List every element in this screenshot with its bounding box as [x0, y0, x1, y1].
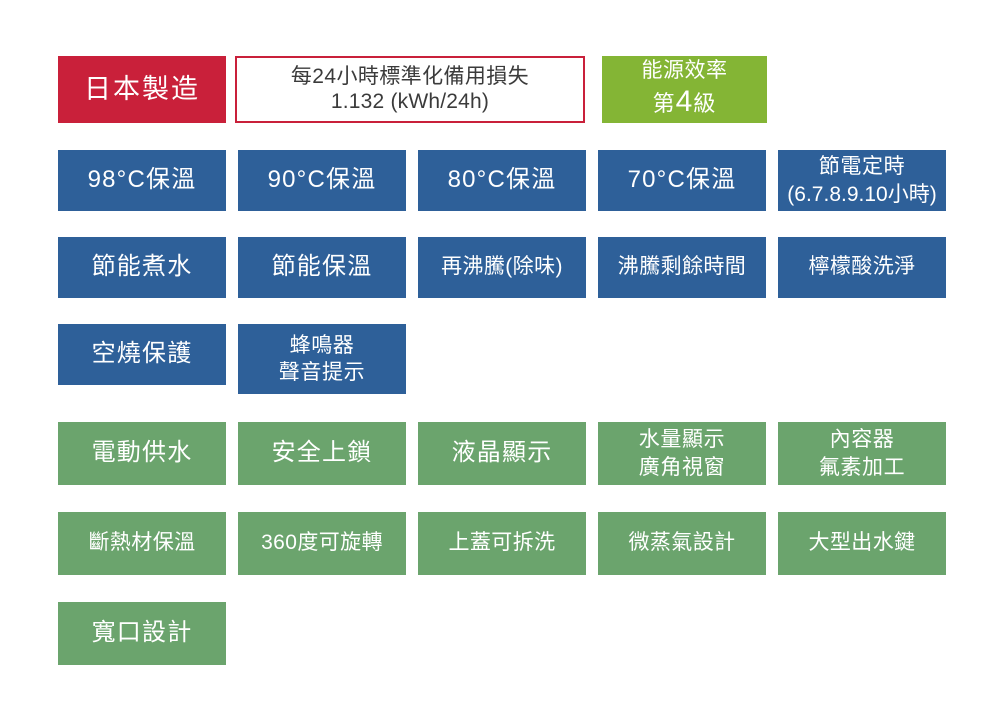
feature-chip-lcd-display: 液晶顯示 — [418, 422, 586, 485]
energy-efficiency-grade: 第4級 — [653, 84, 717, 119]
feature-label-line1: 節電定時 — [819, 153, 905, 180]
energy-efficiency-title: 能源效率 — [642, 59, 728, 84]
feature-chip-wide-mouth-design: 寬口設計 — [58, 602, 226, 665]
feature-label: 大型出水鍵 — [809, 531, 916, 556]
feature-chip-removable-washable-lid: 上蓋可拆洗 — [418, 512, 586, 575]
feature-chip-safety-lock: 安全上鎖 — [238, 422, 406, 485]
feature-label-line2: 廣角視窗 — [639, 454, 725, 481]
badge-made-in-japan: 日本製造 — [58, 56, 226, 123]
feature-label-line2: 氟素加工 — [819, 454, 905, 481]
feature-chip-electric-dispense: 電動供水 — [58, 422, 226, 485]
feature-label: 360度可旋轉 — [261, 531, 383, 556]
feature-chip-360-rotation: 360度可旋轉 — [238, 512, 406, 575]
feature-chip-citric-acid-clean: 檸檬酸洗淨 — [778, 237, 946, 298]
standby-loss-line1: 每24小時標準化備用損失 — [291, 65, 529, 90]
feature-label: 檸檬酸洗淨 — [809, 255, 916, 280]
feature-chip-power-save-timer: 節電定時 (6.7.8.9.10小時) — [778, 150, 946, 211]
feature-chip-keepwarm-98: 98°C保溫 — [58, 150, 226, 211]
feature-chip-low-steam-design: 微蒸氣設計 — [598, 512, 766, 575]
feature-label: 80°C保溫 — [448, 166, 557, 194]
feature-label: 再沸騰(除味) — [441, 255, 563, 280]
feature-label: 寬口設計 — [92, 619, 193, 647]
feature-label: 電動供水 — [92, 439, 193, 467]
badge-energy-efficiency: 能源效率 第4級 — [602, 56, 767, 123]
badge-standby-loss: 每24小時標準化備用損失 1.132 (kWh/24h) — [235, 56, 585, 123]
feature-label-line1: 蜂鳴器 — [290, 332, 355, 359]
feature-label: 上蓋可拆洗 — [449, 531, 556, 556]
feature-label: 斷熱材保溫 — [89, 531, 196, 556]
feature-label: 70°C保溫 — [628, 166, 737, 194]
feature-chip-fluorine-coated-inner-pot: 內容器 氟素加工 — [778, 422, 946, 485]
feature-chip-keepwarm-90: 90°C保溫 — [238, 150, 406, 211]
feature-label-line2: 聲音提示 — [279, 359, 365, 386]
feature-chip-water-level-window: 水量顯示 廣角視窗 — [598, 422, 766, 485]
energy-grade-suffix: 級 — [693, 91, 716, 116]
feature-label: 節能保溫 — [272, 253, 373, 281]
feature-label: 液晶顯示 — [452, 439, 553, 467]
feature-chip-energy-saving-boil: 節能煮水 — [58, 237, 226, 298]
feature-label: 90°C保溫 — [268, 166, 377, 194]
feature-label: 節能煮水 — [92, 253, 193, 281]
feature-chip-insulation-keepwarm: 斷熱材保溫 — [58, 512, 226, 575]
feature-spec-sheet: 日本製造 每24小時標準化備用損失 1.132 (kWh/24h) 能源效率 第… — [0, 0, 1000, 716]
feature-label-line1: 水量顯示 — [639, 426, 725, 453]
feature-label: 空燒保護 — [92, 340, 193, 368]
feature-chip-energy-saving-keepwarm: 節能保溫 — [238, 237, 406, 298]
feature-chip-dry-boil-protection: 空燒保護 — [58, 324, 226, 385]
feature-chip-keepwarm-70: 70°C保溫 — [598, 150, 766, 211]
energy-grade-prefix: 第 — [653, 91, 676, 116]
made-in-japan-label: 日本製造 — [84, 74, 200, 106]
feature-chip-boil-remaining-time: 沸騰剩餘時間 — [598, 237, 766, 298]
feature-chip-reboil-deodorize: 再沸騰(除味) — [418, 237, 586, 298]
energy-grade-number: 4 — [676, 85, 694, 118]
feature-chip-buzzer-sound-alert: 蜂鳴器 聲音提示 — [238, 324, 406, 394]
feature-label: 微蒸氣設計 — [629, 531, 736, 556]
standby-loss-line2: 1.132 (kWh/24h) — [331, 90, 489, 115]
feature-label-line2: (6.7.8.9.10小時) — [787, 181, 936, 208]
feature-label: 沸騰剩餘時間 — [618, 255, 746, 280]
feature-chip-large-dispense-button: 大型出水鍵 — [778, 512, 946, 575]
feature-chip-keepwarm-80: 80°C保溫 — [418, 150, 586, 211]
feature-label: 安全上鎖 — [272, 439, 373, 467]
feature-label-line1: 內容器 — [830, 426, 895, 453]
feature-label: 98°C保溫 — [88, 166, 197, 194]
